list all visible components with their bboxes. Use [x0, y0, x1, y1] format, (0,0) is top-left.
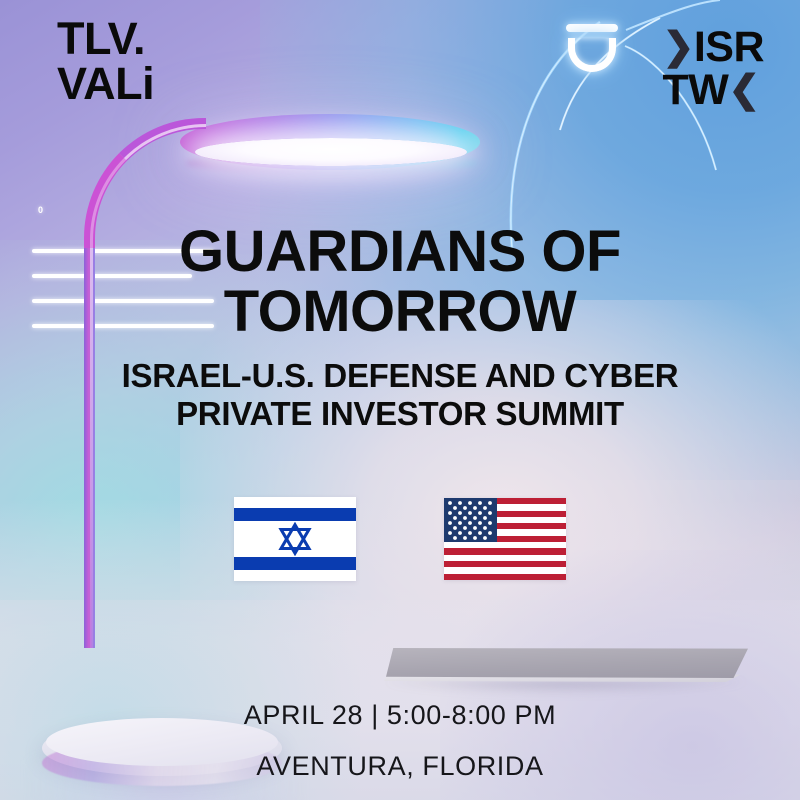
event-location: AVENTURA, FLORIDA: [0, 751, 800, 782]
flags-row: [0, 497, 800, 581]
neon-smile-icon: [560, 14, 624, 78]
logo-isr-line1: ❯ISR: [662, 26, 764, 68]
logo-vali-line2: VALi: [57, 63, 154, 106]
page-title: GUARDIANS OF TOMORROW: [0, 222, 800, 343]
page-subtitle: ISRAEL-U.S. DEFENSE AND CYBER PRIVATE IN…: [0, 357, 800, 434]
title-line-2: TOMORROW: [0, 282, 800, 342]
neon-bar-icon: [566, 24, 618, 32]
subtitle-line-2: PRIVATE INVESTOR SUMMIT: [0, 395, 800, 433]
chevron-left-icon: ❮: [728, 71, 759, 109]
logo-tlv-vali[interactable]: TLV. VALi: [57, 18, 154, 106]
logo-isr-line2: TW❮: [662, 69, 764, 111]
title-line-1: GUARDIANS OF: [0, 222, 800, 282]
event-details: APRIL 28 | 5:00-8:00 PM AVENTURA, FLORID…: [0, 700, 800, 782]
israel-flag-top-stripe: [234, 508, 356, 521]
headline-block: GUARDIANS OF TOMORROW ISRAEL-U.S. DEFENS…: [0, 222, 800, 433]
neon-cup-icon: [568, 38, 616, 72]
logo-isr-tw[interactable]: ❯ISR TW❮: [662, 26, 764, 111]
event-date-time: APRIL 28 | 5:00-8:00 PM: [0, 700, 800, 731]
usa-flag-icon: [444, 498, 566, 580]
israel-flag-icon: [234, 497, 356, 581]
keyboard-shadow: [388, 680, 744, 694]
keyboard-slab: [378, 648, 748, 686]
usa-flag-stars: [444, 498, 566, 580]
logo-isr-text: ISR: [694, 26, 764, 68]
logo-tlv-line1: TLV.: [57, 18, 154, 61]
star-of-david-icon: [278, 522, 312, 556]
logo-tw-text: TW: [662, 69, 728, 111]
logo-tlv-dot: .: [133, 13, 145, 64]
keyboard-top: [386, 648, 748, 678]
event-poster: 0 TLV. VALi ❯ISR TW❮: [0, 0, 800, 800]
subtitle-line-1: ISRAEL-U.S. DEFENSE AND CYBER: [0, 357, 800, 395]
logo-tlv-text: TLV: [57, 13, 133, 64]
israel-flag-bottom-stripe: [234, 557, 356, 570]
lamp-light-panel: [195, 138, 467, 166]
chevron-right-icon: ❯: [662, 28, 693, 66]
